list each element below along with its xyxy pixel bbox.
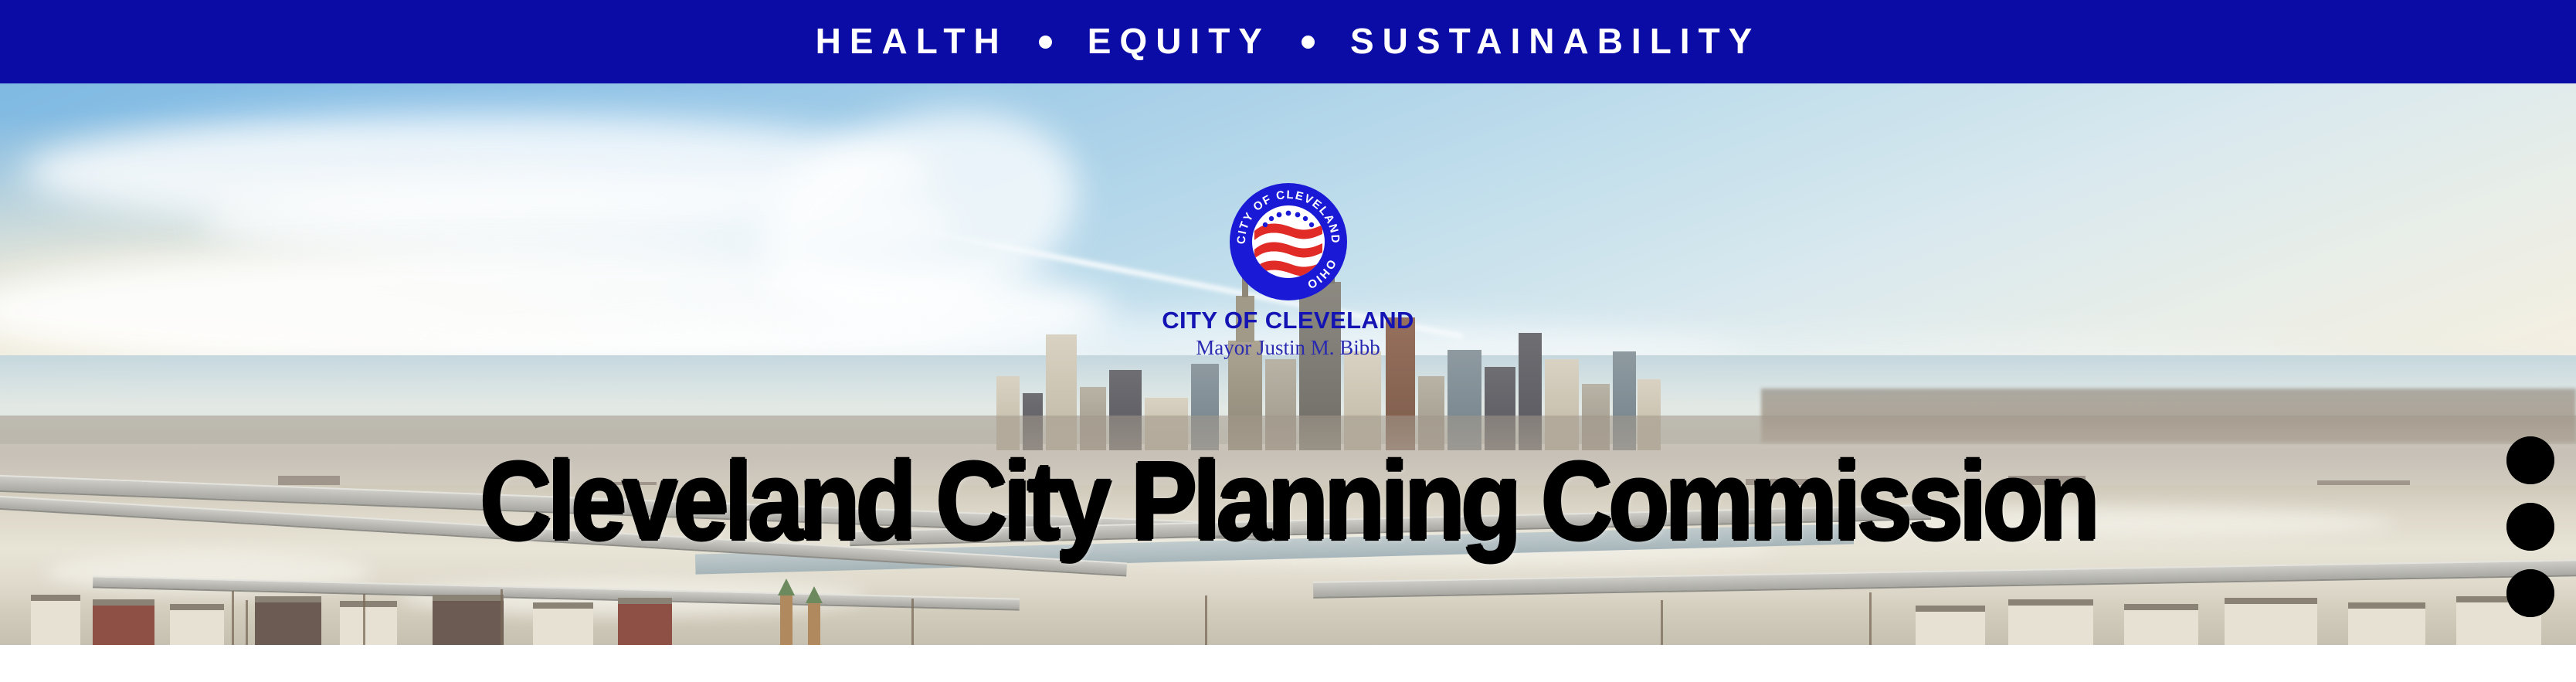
- seal-city-label: CITY OF CLEVELAND: [1111, 308, 1466, 334]
- tagline-word-equity: EQUITY: [1088, 23, 1271, 59]
- house: [433, 600, 504, 645]
- tagline-banner: HEALTH EQUITY SUSTAINABILITY: [0, 0, 2576, 83]
- facebook-link[interactable]: [2506, 569, 2554, 617]
- page-title: Cleveland City Planning Commission: [0, 446, 2576, 557]
- house: [618, 603, 672, 645]
- city-seal-block: CITY OF CLEVELAND OHIO: [1111, 180, 1466, 361]
- house: [340, 606, 397, 645]
- bottom-white-strip: [0, 645, 2576, 682]
- youtube-link[interactable]: [2506, 436, 2554, 484]
- tagline-bullet-dot-2: [1302, 36, 1315, 49]
- house: [1916, 611, 1985, 645]
- church-spire: [808, 603, 820, 645]
- page-root: HEALTH EQUITY SUSTAINABILITY: [0, 0, 2576, 682]
- house: [31, 600, 80, 645]
- tree: [246, 600, 248, 645]
- house: [93, 605, 154, 645]
- tree: [232, 591, 234, 645]
- tree: [1869, 592, 1872, 645]
- house: [2225, 603, 2317, 645]
- instagram-link[interactable]: [2506, 503, 2554, 551]
- house: [533, 608, 593, 645]
- tagline-inner: HEALTH EQUITY SUSTAINABILITY: [816, 23, 1761, 59]
- house: [170, 609, 224, 645]
- tree: [501, 589, 503, 645]
- city-of-cleveland-seal-icon: CITY OF CLEVELAND OHIO: [1227, 180, 1350, 304]
- tagline-word-health: HEALTH: [816, 23, 1008, 59]
- house: [255, 602, 321, 645]
- house: [2008, 605, 2093, 645]
- house: [2348, 608, 2425, 645]
- house: [2124, 609, 2198, 645]
- tree: [363, 594, 365, 645]
- tagline-word-sustainability: SUSTAINABILITY: [1350, 23, 1760, 59]
- seal-mayor-label: Mayor Justin M. Bibb: [1111, 335, 1466, 361]
- social-links-rail: [2506, 436, 2554, 636]
- tree: [1661, 600, 1663, 645]
- tagline-bullet-dot-1: [1039, 36, 1052, 49]
- tree: [911, 599, 914, 645]
- church-spire: [780, 595, 792, 645]
- tree: [1205, 595, 1207, 645]
